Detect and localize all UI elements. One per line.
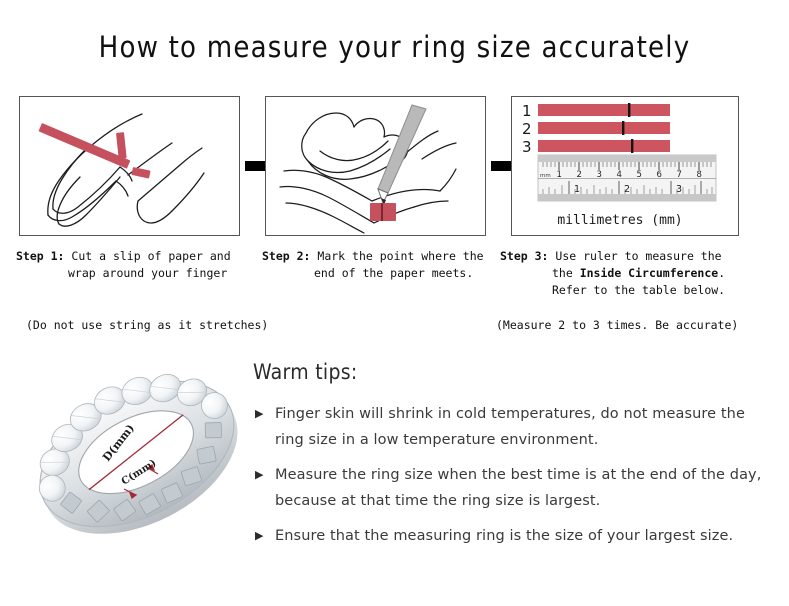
lower-section: D(mm) C(mm) Warm tips: ▶ Finger skin wil… <box>0 352 789 592</box>
step-3-text-line1: Use ruler to measure the <box>555 249 721 263</box>
measured-paper-strips <box>538 103 670 153</box>
step-1-illustration-panel <box>19 96 240 236</box>
step-2-caption: Step 2: Mark the point where the end of … <box>262 248 500 282</box>
ruler-cm-tick-1: 1 <box>557 170 562 180</box>
ruler-cm-tick-3: 3 <box>597 170 602 180</box>
ruler-cm-tick-8: 8 <box>697 170 702 180</box>
tip-text-2: Measure the ring size when the best time… <box>275 467 761 509</box>
warm-tips-heading: Warm tips: <box>253 360 773 384</box>
step-1-note: (Do not use string as it stretches) <box>26 318 268 332</box>
step-3-text-line3: Refer to the table below. <box>500 282 762 299</box>
step-1-label: Step 1: <box>16 249 64 263</box>
step-2-text-line1: Mark the point where the <box>317 249 483 263</box>
step-3-caption: Step 3: Use ruler to measure the the Ins… <box>500 248 762 299</box>
strip-label-1: 1 <box>522 102 532 120</box>
ruler-mm-unit-label: mm <box>540 173 551 179</box>
step-2-text-line2: end of the paper meets. <box>262 265 500 282</box>
tip-item-3: ▶ Ensure that the measuring ring is the … <box>253 523 773 549</box>
page-title: How to measure your ring size accurately <box>0 30 789 64</box>
step-3-text-line2: the Inside Circumference. <box>500 265 762 282</box>
ruler-shape: 1 2 3 4 5 6 7 8 mm 1 2 3 <box>538 155 716 201</box>
ruler-cm-tick-6: 6 <box>657 170 662 180</box>
step-3-label: Step 3: <box>500 249 548 263</box>
ring-diagram: D(mm) C(mm) <box>20 352 255 557</box>
tip-item-2: ▶ Measure the ring size when the best ti… <box>253 462 773 514</box>
strip-label-2: 2 <box>522 120 532 138</box>
strips-over-ruler-icon: 1 2 3 <box>512 97 738 235</box>
hands-marking-paper-icon <box>266 97 485 235</box>
step-1-text-line1: Cut a slip of paper and <box>71 249 230 263</box>
step-3-line2-pre: the <box>552 266 580 280</box>
ruler-unit-caption: millimetres (mm) <box>557 213 682 228</box>
step-1-text-line2: wrap around your finger <box>16 265 254 282</box>
step-3-emphasis: Inside Circumference <box>580 266 718 280</box>
ruler-cm-tick-4: 4 <box>617 170 622 180</box>
step-1-caption: Step 1: Cut a slip of paper and wrap aro… <box>16 248 254 282</box>
ruler-cm-tick-7: 7 <box>677 170 682 180</box>
hand-with-paper-strip-icon <box>20 97 239 235</box>
tip-text-1: Finger skin will shrink in cold temperat… <box>275 406 745 448</box>
marked-paper-strip-shape <box>370 203 396 221</box>
steps-illustration-row: 1 2 3 <box>19 96 771 238</box>
step-2-illustration-panel <box>265 96 486 236</box>
step-captions-row: Step 1: Cut a slip of paper and wrap aro… <box>0 248 789 338</box>
paper-strip-shape <box>38 123 150 179</box>
tip-item-1: ▶ Finger skin will shrink in cold temper… <box>253 401 773 453</box>
strip-label-3: 3 <box>522 138 532 156</box>
diamond-eternity-ring-icon: D(mm) C(mm) <box>20 352 255 557</box>
bullet-triangle-icon: ▶ <box>255 401 264 427</box>
step-3-note: (Measure 2 to 3 times. Be accurate) <box>496 318 738 332</box>
step-3-line2-post: . <box>718 266 725 280</box>
bullet-triangle-icon: ▶ <box>255 462 264 488</box>
bullet-triangle-icon: ▶ <box>255 523 264 549</box>
step-2-label: Step 2: <box>262 249 310 263</box>
tip-text-3: Ensure that the measuring ring is the si… <box>275 528 733 544</box>
ruler-cm-tick-2: 2 <box>577 170 582 180</box>
step-3-illustration-panel: 1 2 3 <box>511 96 739 236</box>
warm-tips-block: Warm tips: ▶ Finger skin will shrink in … <box>253 360 773 558</box>
ruler-cm-tick-5: 5 <box>637 170 642 180</box>
